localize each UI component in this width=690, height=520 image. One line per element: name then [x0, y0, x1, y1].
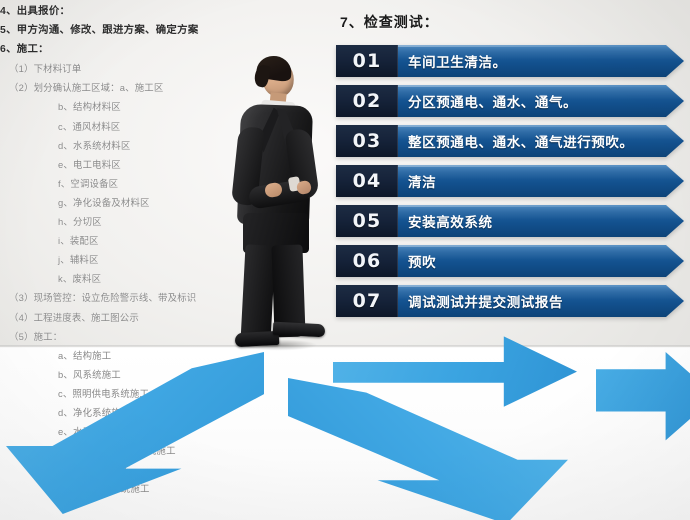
list-item: 6、施工：	[0, 40, 232, 59]
step-label: 预吹	[408, 245, 436, 277]
list-item: （3）现场管控：设立危险警示线、带及标识	[0, 288, 232, 307]
step-number: 01	[336, 45, 398, 77]
list-item: （2）划分确认施工区域：a、施工区	[0, 78, 232, 97]
list-item: （1）下材料订单	[0, 59, 232, 78]
list-item: g、净化设备及材料区	[0, 193, 232, 212]
arrow-top-face	[288, 378, 568, 520]
step-banner[interactable]: 06预吹	[336, 245, 684, 277]
banner-highlight	[398, 165, 684, 167]
figure-shoe-right	[273, 322, 326, 338]
list-item: 4、出具报价：	[0, 2, 232, 21]
arrow-down-right-icon	[288, 378, 568, 520]
step-label: 安装高效系统	[408, 205, 493, 237]
step-label: 分区预通电、通水、通气。	[408, 85, 577, 117]
step-label: 整区预通电、通水、通气进行预吹。	[408, 125, 634, 157]
arrow-top-face	[596, 352, 690, 448]
step-banner[interactable]: 07调试测试并提交测试报告	[336, 285, 684, 317]
list-item: （5）施工：	[0, 327, 232, 346]
section-title: 7、检查测试：	[340, 12, 439, 32]
step-label: 清洁	[408, 165, 436, 197]
list-item: c、通风材料区	[0, 117, 232, 136]
businessman-figure	[213, 55, 343, 355]
slide-canvas: 4、出具报价：5、甲方沟通、修改、跟进方案、确定方案6、施工：（1）下材料订单（…	[0, 0, 690, 520]
step-number: 02	[336, 85, 398, 117]
arrow-right-edge-icon	[596, 352, 690, 448]
list-item: j、辅料区	[0, 250, 232, 269]
arrow-top-face	[6, 352, 264, 514]
step-number: 05	[336, 205, 398, 237]
list-item: k、废料区	[0, 269, 232, 288]
step-banner[interactable]: 02分区预通电、通水、通气。	[336, 85, 684, 117]
list-item: d、水系统材料区	[0, 136, 232, 155]
step-banner[interactable]: 03整区预通电、通水、通气进行预吹。	[336, 125, 684, 157]
list-item: i、装配区	[0, 231, 232, 250]
step-number: 03	[336, 125, 398, 157]
inspection-steps-banner-list: 01车间卫生清洁。02分区预通电、通水、通气。03整区预通电、通水、通气进行预吹…	[336, 45, 684, 325]
list-item: f、空调设备区	[0, 174, 232, 193]
step-label: 调试测试并提交测试报告	[408, 285, 563, 317]
step-banner[interactable]: 01车间卫生清洁。	[336, 45, 684, 77]
list-item: （4）工程进度表、施工图公示	[0, 308, 232, 327]
step-number: 07	[336, 285, 398, 317]
list-item: e、电工电料区	[0, 155, 232, 174]
step-number: 06	[336, 245, 398, 277]
list-item: b、结构材料区	[0, 97, 232, 116]
step-label: 车间卫生清洁。	[408, 45, 507, 77]
banner-highlight	[398, 245, 684, 247]
arrow-down-left-icon	[6, 352, 264, 514]
step-banner[interactable]: 05安装高效系统	[336, 205, 684, 237]
list-item: h、分切区	[0, 212, 232, 231]
figure-leg-left	[240, 244, 275, 343]
list-item: 5、甲方沟通、修改、跟进方案、确定方案	[0, 21, 232, 40]
step-banner[interactable]: 04清洁	[336, 165, 684, 197]
step-number: 04	[336, 165, 398, 197]
